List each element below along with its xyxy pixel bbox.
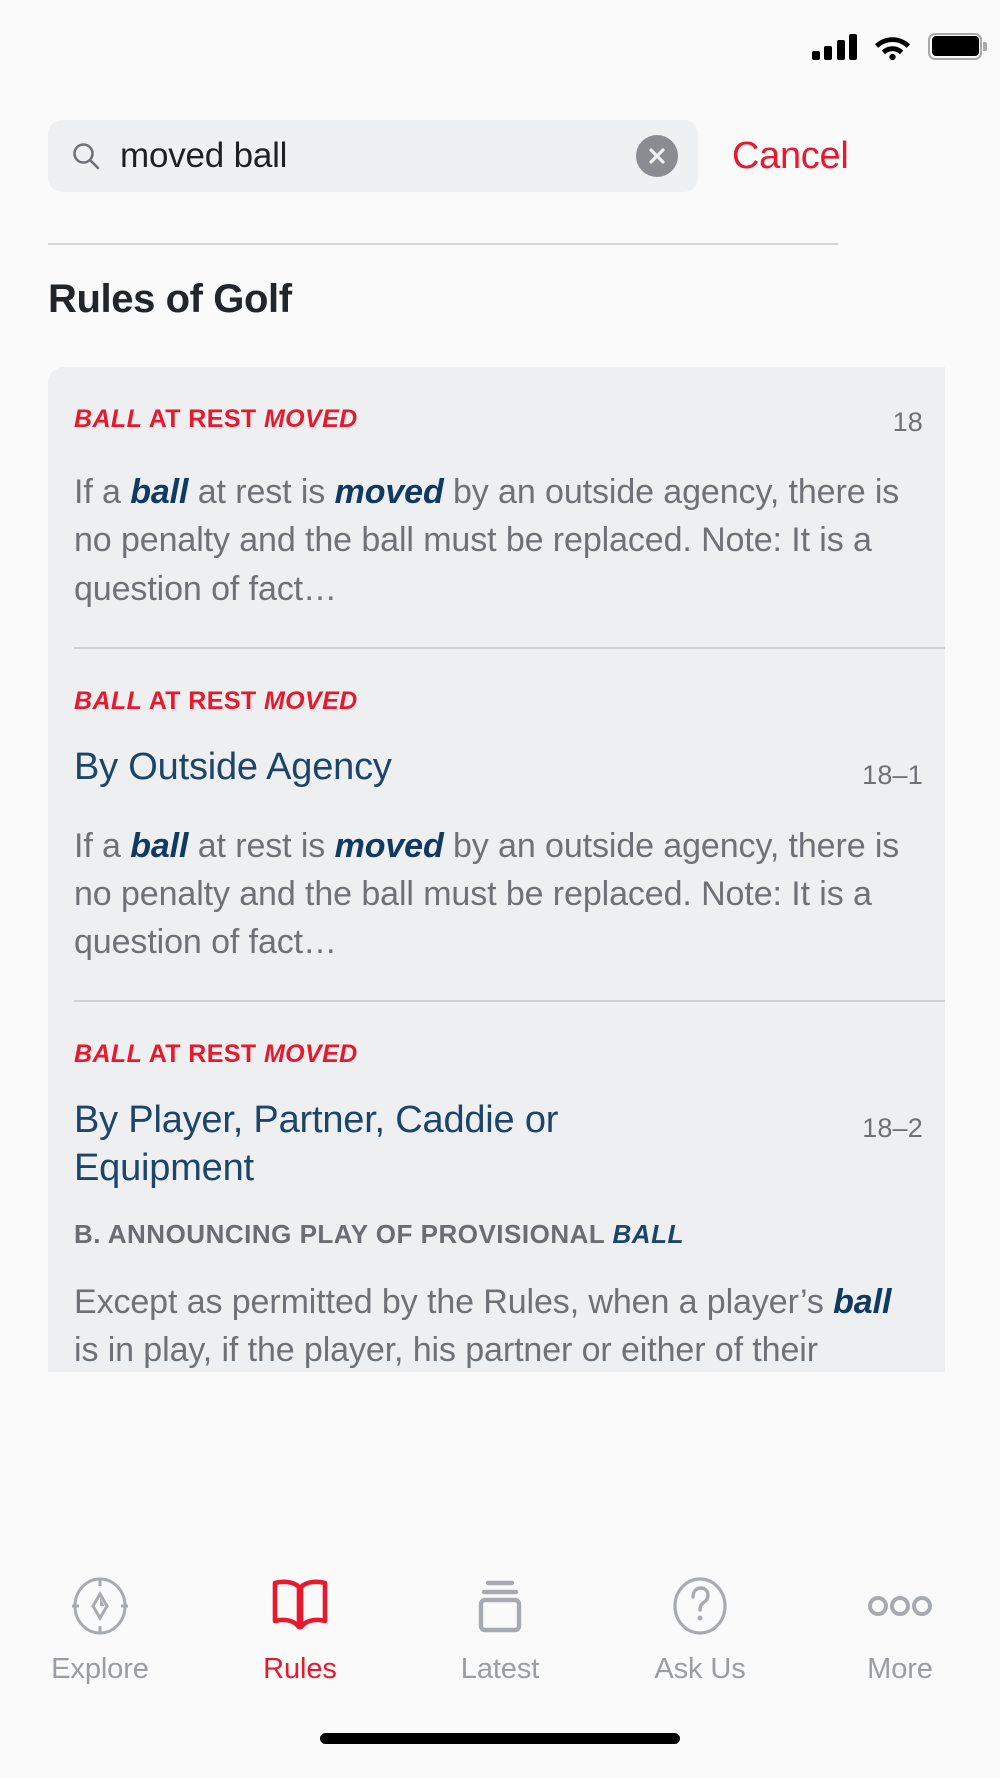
list-item[interactable]: BALL AT REST MOVED By Player, Partner, C… <box>48 1002 945 1372</box>
wifi-icon <box>874 33 911 60</box>
result-kicker: BALL AT REST MOVED <box>74 689 919 714</box>
tab-label: Latest <box>461 1653 539 1686</box>
page-title: Rules of Golf <box>48 277 292 322</box>
cancel-button[interactable]: Cancel <box>732 135 849 178</box>
open-book-icon <box>269 1575 331 1637</box>
tab-label: Ask Us <box>654 1653 745 1686</box>
compass-icon <box>69 1575 131 1637</box>
result-kicker: BALL AT REST MOVED <box>74 1042 919 1067</box>
tab-rules[interactable]: Rules <box>200 1575 400 1686</box>
tab-more[interactable]: More <box>800 1575 1000 1686</box>
clear-search-icon[interactable] <box>636 135 678 177</box>
tab-label: Rules <box>263 1653 337 1686</box>
three-dots-icon <box>865 1575 935 1637</box>
question-circle-icon <box>669 1575 731 1637</box>
result-rule-number: 18–2 <box>862 1113 923 1144</box>
battery-full-icon <box>928 33 982 60</box>
cellular-signal-icon <box>812 34 858 60</box>
home-indicator <box>320 1733 680 1744</box>
tab-explore[interactable]: Explore <box>0 1575 200 1686</box>
search-results-card: BALL AT REST MOVED 18 If a ball at rest … <box>48 367 945 1372</box>
result-sublabel: B. ANNOUNCING PLAY OF PROVISIONAL BALL <box>74 1219 919 1250</box>
result-body: If a ball at rest is moved by an outside… <box>74 822 919 967</box>
tab-label: Explore <box>51 1653 149 1686</box>
status-bar <box>0 0 1000 96</box>
result-body: Except as permitted by the Rules, when a… <box>74 1278 919 1372</box>
tab-ask-us[interactable]: Ask Us <box>600 1575 800 1686</box>
result-title: By Outside Agency <box>74 744 674 792</box>
search-icon <box>71 141 101 171</box>
stacked-cards-icon <box>469 1575 531 1637</box>
tab-label: More <box>867 1653 933 1686</box>
result-title: By Player, Partner, Caddie or Equipment <box>74 1097 674 1193</box>
app-screen: Cancel Rules of Golf BALL AT REST MOVED … <box>0 0 1000 1778</box>
list-item[interactable]: BALL AT REST MOVED 18 If a ball at rest … <box>48 367 945 647</box>
search-field[interactable] <box>48 120 698 192</box>
result-rule-number: 18 <box>893 407 923 438</box>
tab-bar: Explore Rules Latest <box>0 1557 1000 1712</box>
search-row: Cancel <box>48 120 1000 192</box>
result-rule-number: 18–1 <box>862 760 923 791</box>
list-item[interactable]: BALL AT REST MOVED By Outside Agency 18–… <box>48 649 945 1001</box>
header-divider <box>48 243 838 245</box>
result-body: If a ball at rest is moved by an outside… <box>74 468 919 613</box>
tab-latest[interactable]: Latest <box>400 1575 600 1686</box>
result-kicker: BALL AT REST MOVED <box>74 407 919 432</box>
search-input[interactable] <box>120 136 636 176</box>
